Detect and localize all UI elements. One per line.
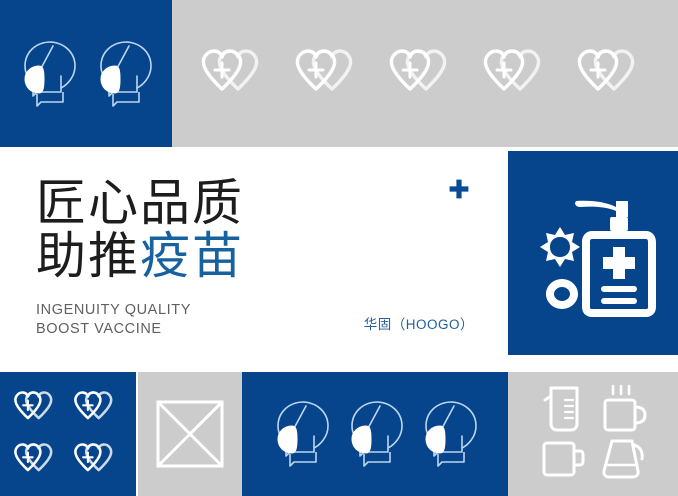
double-heart-plus-icon bbox=[382, 47, 468, 101]
bottom-hearts-blue-panel bbox=[0, 372, 136, 496]
masked-head-icon bbox=[93, 36, 155, 112]
top-right-gray-panel bbox=[172, 0, 678, 147]
headline-block: 匠心品质 助推疫苗 bbox=[36, 177, 244, 283]
double-heart-plus-icon bbox=[288, 47, 374, 101]
carafe-icon bbox=[598, 437, 648, 481]
double-heart-plus-icon bbox=[570, 47, 656, 101]
steaming-mug-icon bbox=[599, 384, 647, 434]
masked-head-icon bbox=[270, 396, 332, 472]
subhead-line-1: INGENUITY QUALITY bbox=[36, 301, 191, 320]
masked-head-icon bbox=[344, 396, 406, 472]
mug-icon bbox=[540, 437, 588, 481]
placeholder-wrap bbox=[138, 372, 242, 496]
masked-head-icon-row-bottom bbox=[242, 372, 508, 496]
subhead-block: INGENUITY QUALITY BOOST VACCINE bbox=[36, 301, 191, 339]
double-heart-plus-icon bbox=[69, 440, 127, 480]
masked-head-icon-row-top bbox=[0, 0, 172, 147]
headline-line-2-black: 助推 bbox=[36, 228, 140, 284]
plus-icon bbox=[448, 178, 470, 200]
bottom-vessels-gray-panel bbox=[508, 372, 678, 496]
double-heart-plus-icon bbox=[476, 47, 562, 101]
sanitizer-blue-panel bbox=[508, 151, 678, 355]
bottom-masks-blue-panel bbox=[242, 372, 508, 496]
vessel-icon-grid bbox=[508, 372, 678, 496]
headline-white-panel: 匠心品质 助推疫苗 INGENUITY QUALITY BOOST VACCIN… bbox=[0, 151, 498, 355]
placeholder-gray-panel bbox=[138, 372, 242, 496]
double-heart-icon-row-top bbox=[172, 0, 678, 147]
double-heart-plus-icon bbox=[9, 440, 67, 480]
top-left-blue-panel bbox=[0, 0, 172, 147]
headline-line-2: 助推疫苗 bbox=[36, 230, 244, 283]
double-heart-plus-icon bbox=[194, 47, 280, 101]
subhead-line-2: BOOST VACCINE bbox=[36, 320, 191, 339]
double-heart-plus-icon bbox=[9, 388, 67, 428]
brand-name: 华固（HOOGO） bbox=[364, 313, 474, 333]
sanitizer-bottle-icon bbox=[530, 183, 656, 323]
poster-canvas: 匠心品质 助推疫苗 INGENUITY QUALITY BOOST VACCIN… bbox=[0, 0, 678, 496]
headline-line-1: 匠心品质 bbox=[36, 177, 244, 230]
masked-head-icon bbox=[418, 396, 480, 472]
double-heart-plus-icon bbox=[69, 388, 127, 428]
beaker-icon bbox=[543, 384, 585, 434]
double-heart-icon-grid bbox=[0, 372, 136, 496]
image-placeholder-icon bbox=[156, 400, 224, 468]
headline-line-2-accent: 疫苗 bbox=[140, 228, 244, 284]
masked-head-icon bbox=[17, 36, 79, 112]
